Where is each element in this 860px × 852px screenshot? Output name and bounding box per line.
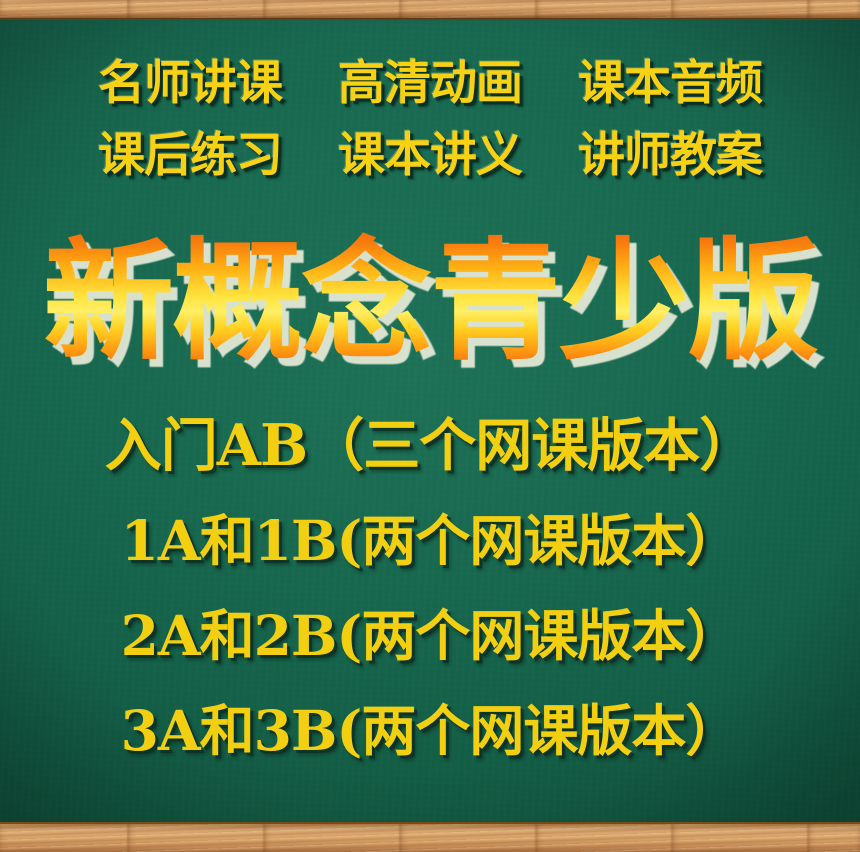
wooden-frame-top-shadow — [0, 18, 860, 21]
wooden-frame-top — [0, 0, 860, 20]
course-list-item: 1A和1B(两个网课版本） — [0, 493, 860, 588]
course-list-item: 3A和3B(两个网课版本） — [0, 683, 860, 778]
course-list-item: 入门AB（三个网课版本） — [0, 398, 860, 493]
course-version-list: 入门AB（三个网课版本） 1A和1B(两个网课版本） 2A和2B(两个网课版本）… — [0, 398, 860, 778]
feature-tag-keben-yinpin: 课本音频 — [578, 48, 762, 120]
main-title: 新概念青少版 新概念青少版 — [0, 222, 860, 382]
feature-tag-jiangshi-jiaoan: 讲师教案 — [578, 120, 762, 192]
main-title-text: 新概念青少版 — [0, 222, 860, 382]
feature-tag-row-2: 课后练习 课本讲义 讲师教案 — [0, 120, 860, 192]
feature-tag-kehou-lianxi: 课后练习 — [98, 120, 282, 192]
feature-tag-mingshi-jiangke: 名师讲课 — [98, 48, 282, 120]
feature-tag-gaoqing-donghua: 高清动画 — [338, 48, 522, 120]
course-list-item: 2A和2B(两个网课版本） — [0, 588, 860, 683]
feature-tag-keben-jiangyi: 课本讲义 — [338, 120, 522, 192]
wooden-frame-bottom — [0, 822, 860, 852]
feature-tag-group: 名师讲课 高清动画 课本音频 课后练习 课本讲义 讲师教案 — [0, 48, 860, 192]
feature-tag-row-1: 名师讲课 高清动画 课本音频 — [0, 48, 860, 120]
chalkboard-poster: 名师讲课 高清动画 课本音频 课后练习 课本讲义 讲师教案 新概念青少版 新概念… — [0, 0, 860, 852]
